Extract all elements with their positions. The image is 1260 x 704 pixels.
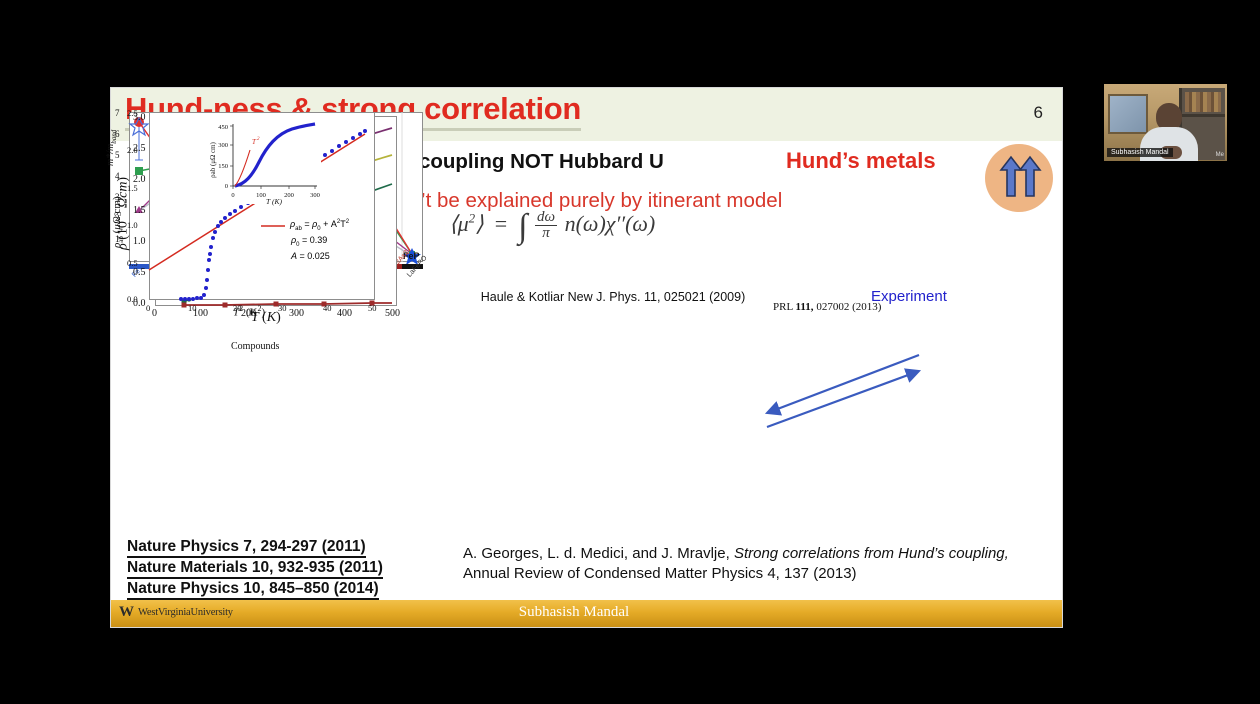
inset-x-axis-label: T (K) [266,197,282,206]
chart-inset: T 2 0 150 300 450 0 [207,120,321,204]
screen: Hund-ness & strong correlation 6 Origin … [0,0,1260,704]
citation-volume: 111, [796,301,814,313]
svg-text:2: 2 [257,137,260,142]
equation-equals: = [489,211,512,236]
reference-item: Nature Materials 10, 932-935 (2011) [127,559,383,579]
equation-rhs: n(ω)χ′′(ω) [565,211,656,236]
x-tick: 0 [152,308,157,319]
panel-citation-haule-kotliar: Haule & Kotliar New J. Phys. 11, 025021 … [463,290,763,304]
equation-denominator: π [535,226,557,242]
inset-x-tick: 300 [310,192,320,199]
presenter-name: Subhasish Mandal [86,604,1062,621]
inset-plot: T 2 0 150 300 450 0 [207,120,321,204]
y-tick: 1.0 [127,220,138,230]
reference-list-left: Nature Physics 7, 294-297 (2011) Nature … [127,538,383,601]
fit-line-swatch [261,223,285,229]
citation-prefix: PRL [773,301,796,313]
reference-item: Nature Physics 7, 294-297 (2011) [127,538,366,558]
reference-journal: Annual Review of Condensed Matter Physic… [463,565,857,582]
x-tick: 400 [337,308,352,319]
x-tick: 40 [323,303,332,313]
x-tick: 30 [278,303,287,313]
fit-rho0: ρ0 = 0.39 [291,234,349,250]
y-tick: 2.0 [127,145,138,155]
spin-arrows-badge [985,144,1053,212]
y-tick: 0.0 [127,294,138,304]
fit-A: A = 0.025 [291,250,349,264]
annotation-arrows [671,343,931,473]
equation-lhs: ⟨μ2⟩ [449,211,484,236]
webcam-panel[interactable]: Subhasish Mandal Me [1103,83,1228,162]
slide-page-number: 6 [1034,103,1043,123]
reference-title: Strong correlations from Hund’s coupling… [734,545,1009,562]
x-axis-label: Compounds [231,341,279,352]
y-tick: 1.0 [133,236,146,247]
webcam-name-label: Subhasish Mandal [1107,148,1173,157]
x-tick: 500 [385,308,400,319]
slide-footer: W WestVirginiaUniversity Subhasish Manda… [111,600,1062,627]
inset-x-tick: 200 [284,192,294,199]
fit-annotation: ρab = ρ0 + A2T2 ρ0 = 0.39 A = 0.025 [261,218,349,263]
citation-suffix: 027002 (2013) [814,301,882,313]
y-tick: 0.5 [127,258,138,268]
reference-item: Nature Physics 10, 845–850 (2014) [127,580,379,600]
y-tick: 1.5 [133,205,146,216]
equation-numerator: dω [535,210,557,227]
inset-x-tick: 100 [256,192,266,199]
moment-equation: ⟨μ2⟩ = ∫ dω π n(ω)χ′′(ω) [449,208,655,246]
y-tick: 1.5 [127,183,138,193]
fit-equation-row: ρab = ρ0 + A2T2 [261,218,349,234]
reference-georges: A. Georges, L. d. Medici, and J. Mravlje… [463,544,1053,585]
fit-equation: ρab = ρ0 + A2T2 [290,218,349,234]
panel-citation-prl: PRL 111, 027002 (2013) [773,301,881,313]
integral-icon: ∫ [518,208,527,245]
webcam-corner-label: Me [1216,152,1224,158]
inset-y-tick: 150 [218,163,228,170]
x-tick: 50 [368,303,377,313]
inset-x-tick: 0 [231,192,234,199]
up-arrows-icon [985,144,1053,212]
equation-fraction: dω π [535,210,557,243]
x-tick: 10 [188,303,197,313]
presentation-slide: Hund-ness & strong correlation 6 Origin … [110,87,1063,628]
y-tick: 5 [115,150,120,160]
y-tick: 2.5 [127,108,138,118]
y-tick: 7 [115,108,120,118]
inset-y-axis-label: ρab (μΩ cm) [209,141,217,177]
y-tick: 0.5 [133,267,146,278]
x-tick: 0 [146,303,150,313]
inset-y-tick: 300 [218,142,228,149]
inset-y-tick: 0 [225,183,228,190]
inset-y-tick: 450 [218,124,228,131]
y-tick: 6 [115,129,120,139]
reference-authors: A. Georges, L. d. Medici, and J. Mravlje… [463,545,734,562]
hunds-metals-label: Hund’s metals [786,148,936,174]
panel-title-experiment: Experiment [871,288,1021,305]
x-tick: 20 [233,303,242,313]
x-tick: 300 [289,308,304,319]
y-axis-label: ρab (μΩ cm) [111,196,125,248]
